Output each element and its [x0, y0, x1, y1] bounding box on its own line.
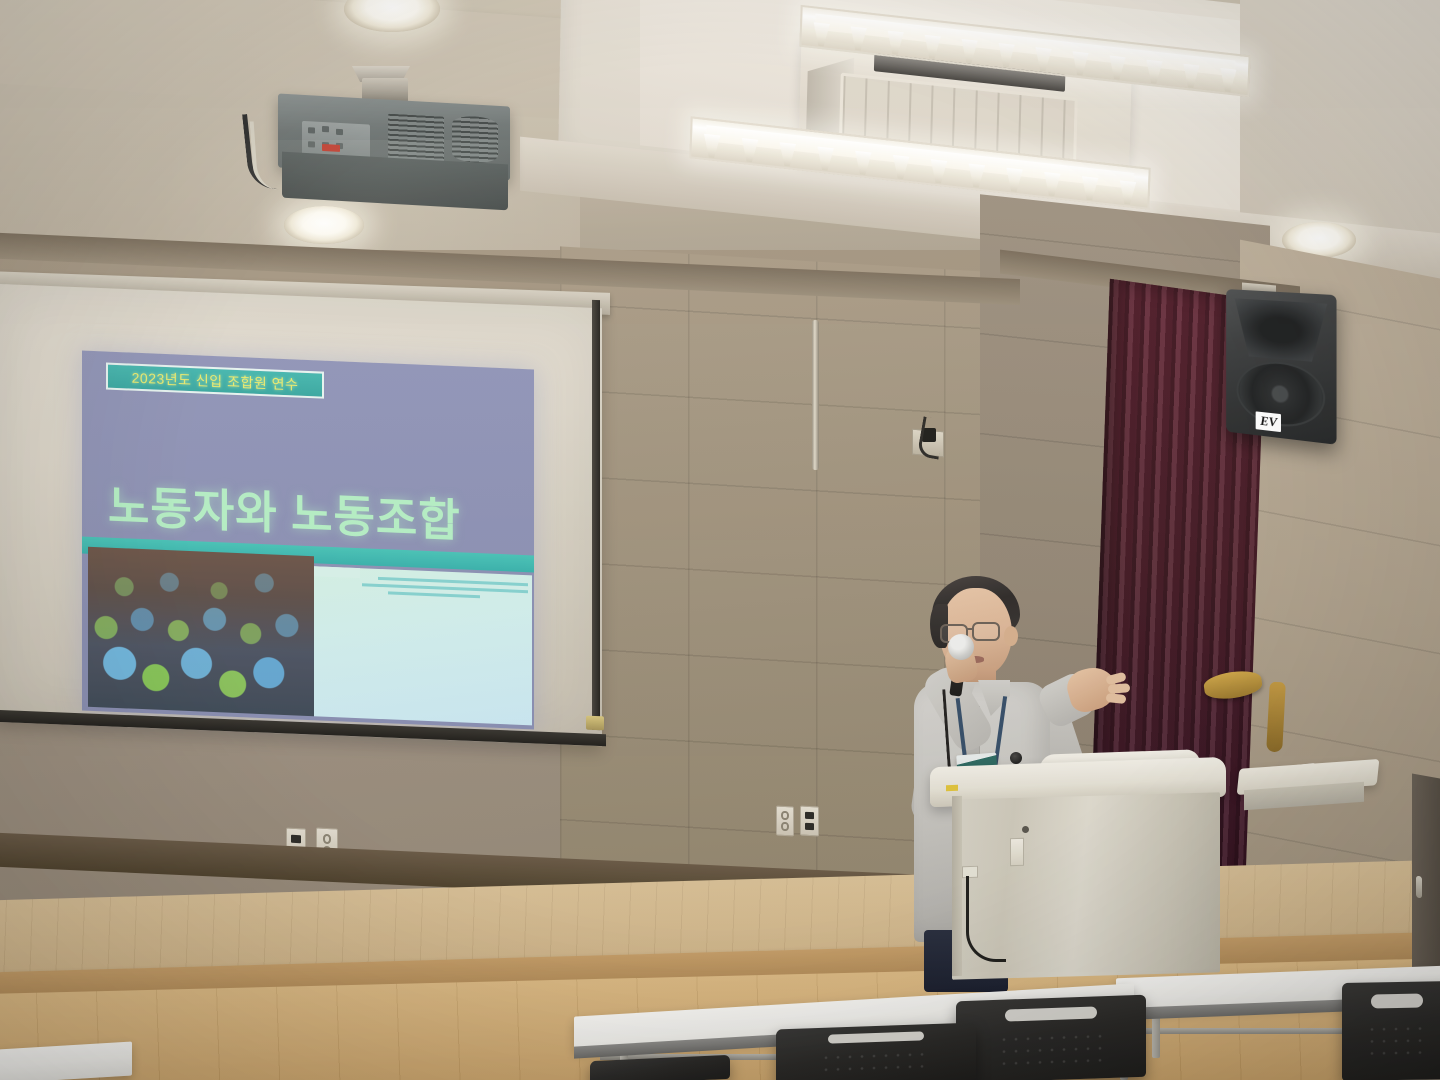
projection-screen-weight: [586, 716, 604, 731]
stacking-chair[interactable]: [1342, 981, 1440, 1080]
wall-data-jack[interactable]: [800, 806, 819, 837]
projector-status-led: [322, 144, 340, 152]
chair-handle-cutout: [1371, 993, 1424, 1009]
slide-crowd-photo: [88, 547, 314, 716]
eyeglasses-icon: [972, 622, 1000, 641]
projection-screen-edge: [592, 300, 600, 730]
wall-power-outlet[interactable]: [776, 806, 794, 837]
podium-side-edge: [952, 796, 962, 976]
chair-perforations: [998, 1031, 1104, 1068]
podium-knob[interactable]: [1022, 826, 1029, 833]
wall-mounted-pa-speaker: EV: [1226, 289, 1336, 445]
podium-sticker: [946, 785, 958, 791]
projected-slide: 2023년도 신입 조합원 연수 노동자와 노동조합: [82, 351, 534, 730]
slide-title: 노동자와 노동조합: [108, 470, 508, 552]
projector-vent: [388, 114, 444, 163]
folding-table: [0, 1042, 132, 1080]
chair-handle-cutout: [828, 1031, 924, 1043]
slide-eyebrow-text: 2023년도 신입 조합원 연수: [132, 367, 299, 394]
finger: [1108, 683, 1131, 694]
stacking-chair[interactable]: [956, 995, 1146, 1080]
eyeglasses-bridge: [967, 628, 974, 630]
clip-on-mic: [1010, 752, 1022, 764]
podium-switch-panel[interactable]: [1010, 838, 1024, 866]
chair-perforations: [1366, 1023, 1428, 1063]
slide-eyebrow-bar: 2023년도 신입 조합원 연수: [106, 363, 324, 399]
chair-perforations: [820, 1048, 932, 1075]
projector-fan-vent: [452, 115, 498, 164]
wall-conduit-pipe: [812, 320, 819, 470]
slide-panel-notch: [314, 566, 360, 578]
ear: [1004, 626, 1018, 646]
recessed-downlight-icon: [284, 206, 364, 244]
chair-handle-cutout: [1005, 1006, 1096, 1021]
door-handle[interactable]: [1416, 875, 1422, 898]
finger: [1106, 693, 1127, 704]
speaker-horn: [1235, 298, 1328, 363]
conference-room-photo: 2023년도 신입 조합원 연수 노동자와 노동조합 EV: [0, 0, 1440, 1080]
speaker-brand-logo: EV: [1256, 412, 1281, 433]
microphone-icon: [948, 634, 974, 660]
slide-content-panel: [314, 566, 532, 725]
slide-panel-line: [388, 591, 480, 598]
podium-cable: [966, 876, 1006, 962]
stacking-chair[interactable]: [776, 1023, 976, 1080]
